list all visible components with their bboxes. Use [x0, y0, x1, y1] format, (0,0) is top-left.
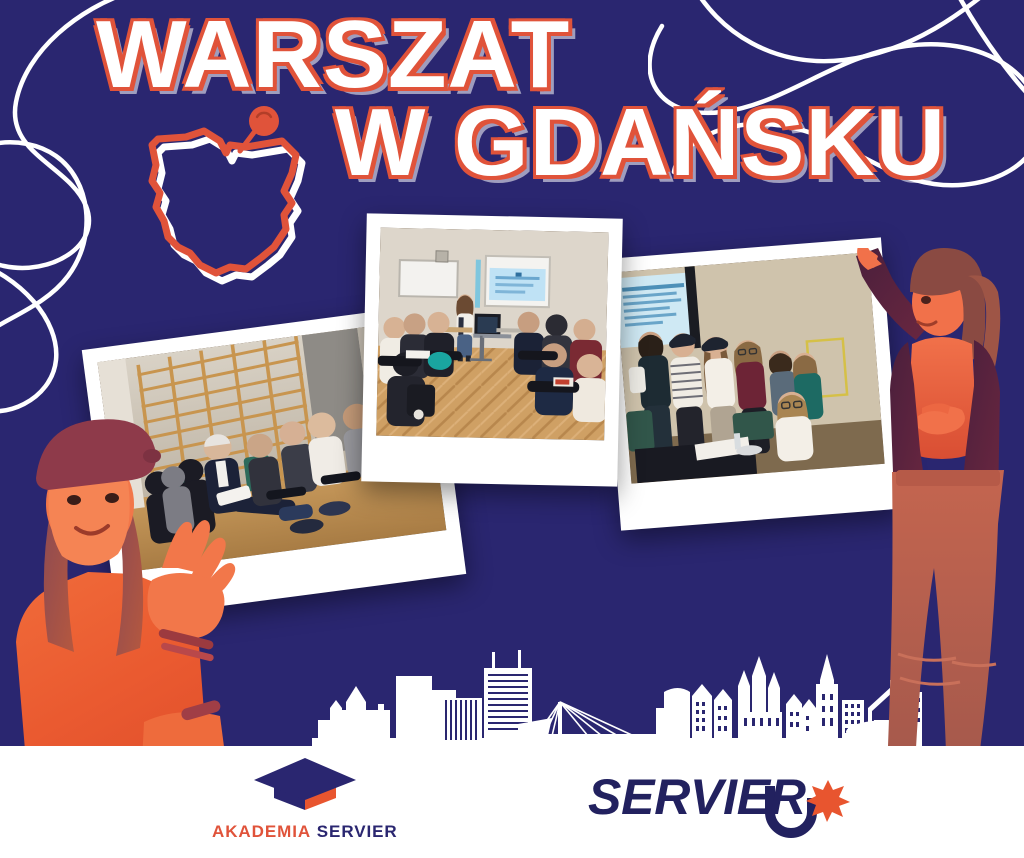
poland-shadow-path — [158, 139, 302, 281]
gdansk-skyline — [312, 646, 922, 746]
akademia-word: AKADEMIA — [212, 822, 311, 841]
photo-card-center[interactable] — [361, 213, 623, 486]
cutout-person-left — [0, 392, 238, 762]
akademia-servier-wordmark: AKADEMIA SERVIER — [212, 822, 398, 842]
servier-logo[interactable]: SERVIER — [588, 772, 850, 846]
page-title-line-1: WARSZAT — [0, 8, 1024, 102]
map-pin-head-icon — [249, 106, 279, 136]
graduation-cap-icon — [250, 754, 360, 816]
servier-word: SERVIER — [317, 822, 398, 841]
squiggle-topright-icon — [648, 0, 1024, 216]
poland-map — [140, 105, 340, 305]
poster-canvas: WARSZAT W GDAŃSKU — [0, 0, 1024, 858]
photo-center — [376, 228, 608, 441]
cutout-person-right — [856, 248, 1024, 753]
squiggle-left-icon — [0, 0, 160, 390]
servier-wordmark: SERVIER — [588, 772, 806, 822]
photo-right — [615, 252, 885, 483]
akademia-servier-logo[interactable]: AKADEMIA SERVIER — [212, 754, 398, 842]
footer-bar: AKADEMIA SERVIER SERVIER — [0, 746, 1024, 858]
